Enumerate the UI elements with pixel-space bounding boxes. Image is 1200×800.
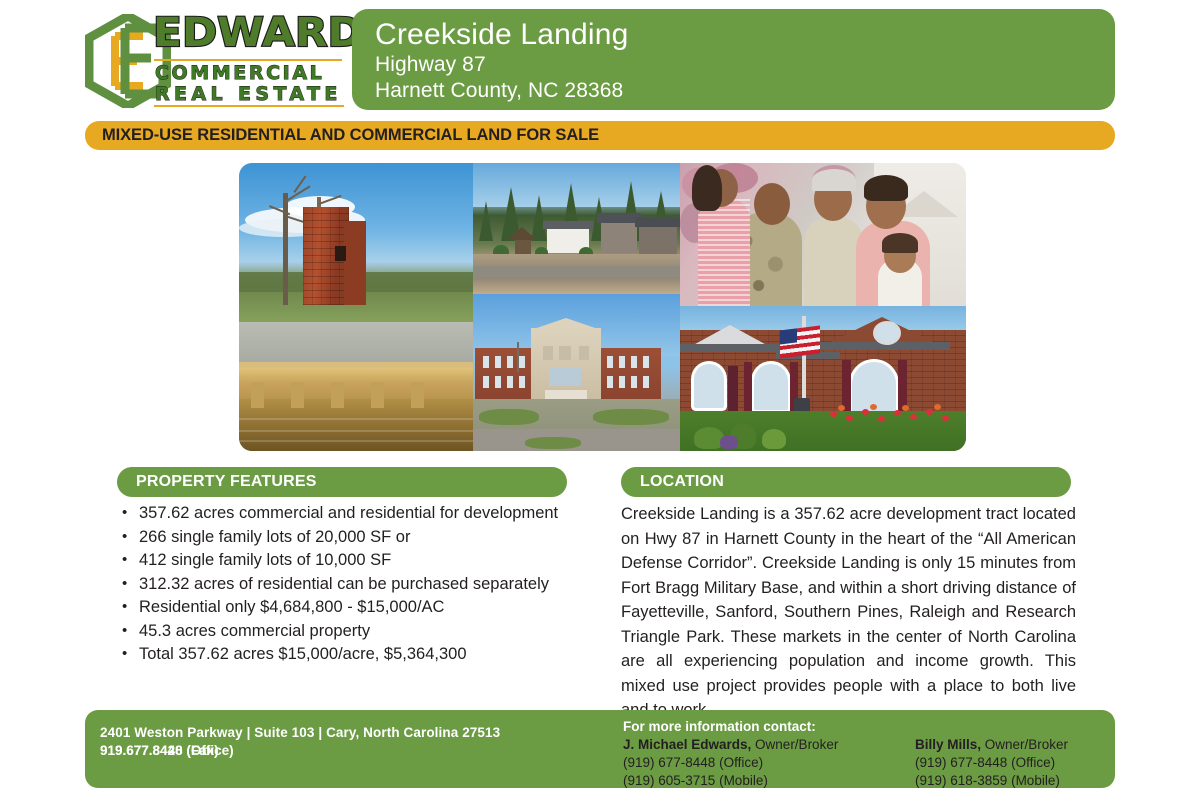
office-info: 2401 Weston Parkway | Suite 103 | Cary, … — [100, 724, 500, 742]
contact-office-phone[interactable]: (919) 677-8448 (Office) — [915, 754, 1155, 772]
page-footer: 2401 Weston Parkway | Suite 103 | Cary, … — [85, 710, 1115, 788]
logo-wordmark: EDWARDS COMMERCIAL REAL ESTATE — [153, 10, 345, 110]
list-item: 412 single family lots of 10,000 SF — [117, 549, 587, 573]
property-features-list: 357.62 acres commercial and residential … — [117, 502, 587, 667]
office-address: 2401 Weston Parkway | Suite 103 | Cary, … — [100, 724, 500, 742]
broker-contacts: For more information contact: J. Michael… — [623, 718, 1155, 790]
contact-spacer — [915, 718, 1155, 736]
page-header: EDWARDS COMMERCIAL REAL ESTATE Creekside… — [0, 0, 1200, 118]
logo-divider-bottom — [154, 105, 344, 107]
company-logo[interactable]: EDWARDS COMMERCIAL REAL ESTATE — [85, 8, 343, 112]
property-city-state-zip: Harnett County, NC 28368 — [375, 78, 1115, 104]
logo-divider-top — [154, 59, 342, 61]
photo-military-family — [680, 163, 966, 306]
contact-mobile-phone[interactable]: (919) 605-3715 (Mobile) — [623, 772, 863, 790]
collage-column-right — [680, 163, 966, 451]
property-features-title: PROPERTY FEATURES — [136, 473, 317, 491]
page-title: Creekside Landing — [375, 18, 1115, 52]
contact-name-role: J. Michael Edwards, Owner/Broker — [623, 736, 863, 754]
office-fax: 919.677.8420 (Fax) — [100, 742, 500, 760]
collage-column-left — [239, 163, 473, 451]
photo-brick-home-flag — [680, 306, 966, 451]
list-item: 45.3 acres commercial property — [117, 620, 587, 644]
contact-heading: For more information contact: — [623, 718, 863, 736]
contact-card-secondary: Billy Mills, Owner/Broker (919) 677-8448… — [915, 718, 1155, 790]
list-item: 266 single family lots of 20,000 SF or — [117, 526, 587, 550]
logo-commercial-text: COMMERCIAL — [155, 62, 324, 84]
contact-name-role: Billy Mills, Owner/Broker — [915, 736, 1155, 754]
location-header: LOCATION — [621, 467, 1071, 497]
photo-campus-building — [473, 294, 680, 451]
location-description: Creekside Landing is a 357.62 acre devel… — [621, 502, 1076, 723]
collage-column-middle — [473, 163, 680, 451]
photo-neighborhood-gazebo — [473, 163, 680, 294]
property-features-header: PROPERTY FEATURES — [117, 467, 567, 497]
photo-wooden-bridge — [239, 322, 473, 451]
property-title-panel: Creekside Landing Highway 87 Harnett Cou… — [352, 9, 1115, 110]
listing-type-label: MIXED-USE RESIDENTIAL AND COMMERCIAL LAN… — [102, 126, 599, 145]
contact-role: Owner/Broker — [751, 737, 838, 752]
contact-mobile-phone[interactable]: (919) 618-3859 (Mobile) — [915, 772, 1155, 790]
contact-name: Billy Mills, — [915, 737, 981, 752]
logo-real-estate-text: REAL ESTATE — [155, 83, 342, 105]
list-item: Total 357.62 acres $15,000/acre, $5,364,… — [117, 643, 587, 667]
contact-card-primary: For more information contact: J. Michael… — [623, 718, 863, 790]
property-street: Highway 87 — [375, 52, 1115, 78]
listing-type-banner: MIXED-USE RESIDENTIAL AND COMMERCIAL LAN… — [85, 121, 1115, 150]
photo-brick-ruin — [239, 163, 473, 322]
list-item: 357.62 acres commercial and residential … — [117, 502, 587, 526]
list-item: Residential only $4,684,800 - $15,000/AC — [117, 596, 587, 620]
property-photo-collage — [239, 163, 966, 451]
list-item: 312.32 acres of residential can be purch… — [117, 573, 587, 597]
contact-office-phone[interactable]: (919) 677-8448 (Office) — [623, 754, 863, 772]
location-title: LOCATION — [640, 473, 724, 491]
contact-name: J. Michael Edwards, — [623, 737, 751, 752]
contact-role: Owner/Broker — [981, 737, 1068, 752]
